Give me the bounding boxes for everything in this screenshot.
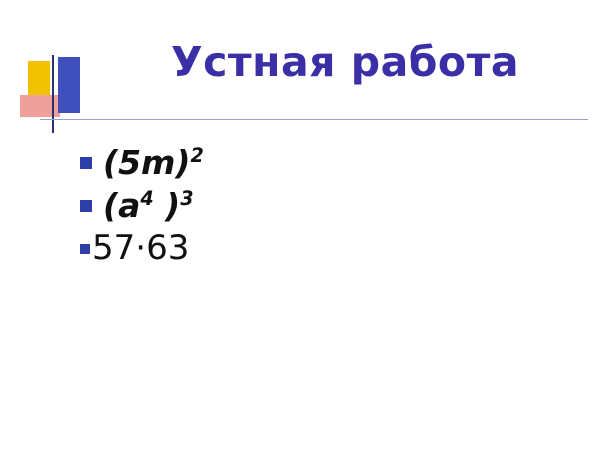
title-divider [40,119,588,120]
slide: Устная работа (5m)2 (a4 )3 57·63 [0,0,600,450]
pink-square-icon [20,95,60,117]
list-item-label: (5m)2 [103,146,204,181]
blue-square-icon [58,57,80,113]
vertical-line-icon [52,55,54,133]
decorative-logo-block [20,55,98,133]
bullet-list: (5m)2 (a4 )3 57·63 [80,146,560,275]
list-item: 57·63 [80,231,560,267]
expression-base-close: ) [154,186,181,225]
list-item-label: (a4 )3 [103,189,194,224]
square-bullet-icon [80,244,90,254]
expression-base: (5m) [103,143,191,182]
expression-exponent: 3 [180,187,193,210]
list-item-label: 57·63 [92,231,189,267]
page-title: Устная работа [110,38,580,86]
expression-inner-exponent: 4 [140,187,153,210]
list-item: (a4 )3 [80,189,560,224]
square-bullet-icon [80,200,92,212]
expression-base-open: (a [103,186,140,225]
list-item: (5m)2 [80,146,560,181]
square-bullet-icon [80,157,92,169]
yellow-square-icon [28,61,50,99]
expression-exponent: 2 [191,144,204,167]
